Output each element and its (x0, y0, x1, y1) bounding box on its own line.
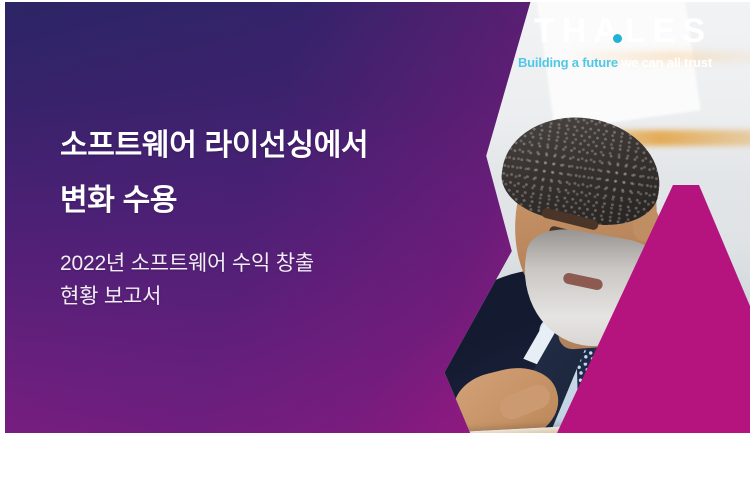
headline-line-2: 변화 수용 (60, 173, 490, 228)
tagline-rest: we can all trust (618, 55, 712, 70)
banner-canvas: 소프트웨어 라이선싱에서 변화 수용 2022년 소프트웨어 수익 창출 현황 … (0, 0, 750, 495)
hero-banner: 소프트웨어 라이선싱에서 변화 수용 2022년 소프트웨어 수익 창출 현황 … (5, 0, 750, 433)
tagline-highlight: Building a future (518, 55, 618, 70)
thales-wordmark: THALES (518, 14, 712, 48)
frame-bottom-area (0, 433, 750, 495)
page-title: 소프트웨어 라이선싱에서 변화 수용 (60, 118, 490, 228)
thales-logo[interactable]: THALES Building a future we can all trus… (518, 14, 712, 70)
thales-a-dot-icon (613, 34, 622, 43)
thales-tagline: Building a future we can all trust (518, 55, 712, 70)
subheadline-line-1: 2022년 소프트웨어 수익 창출 (60, 252, 314, 275)
page-subtitle: 2022년 소프트웨어 수익 창출 현황 보고서 (60, 247, 490, 313)
headline-line-1: 소프트웨어 라이선싱에서 (60, 129, 368, 162)
frame-left-edge (0, 0, 5, 495)
frame-top-edge (0, 0, 750, 2)
subheadline-line-2: 현황 보고서 (60, 280, 490, 313)
